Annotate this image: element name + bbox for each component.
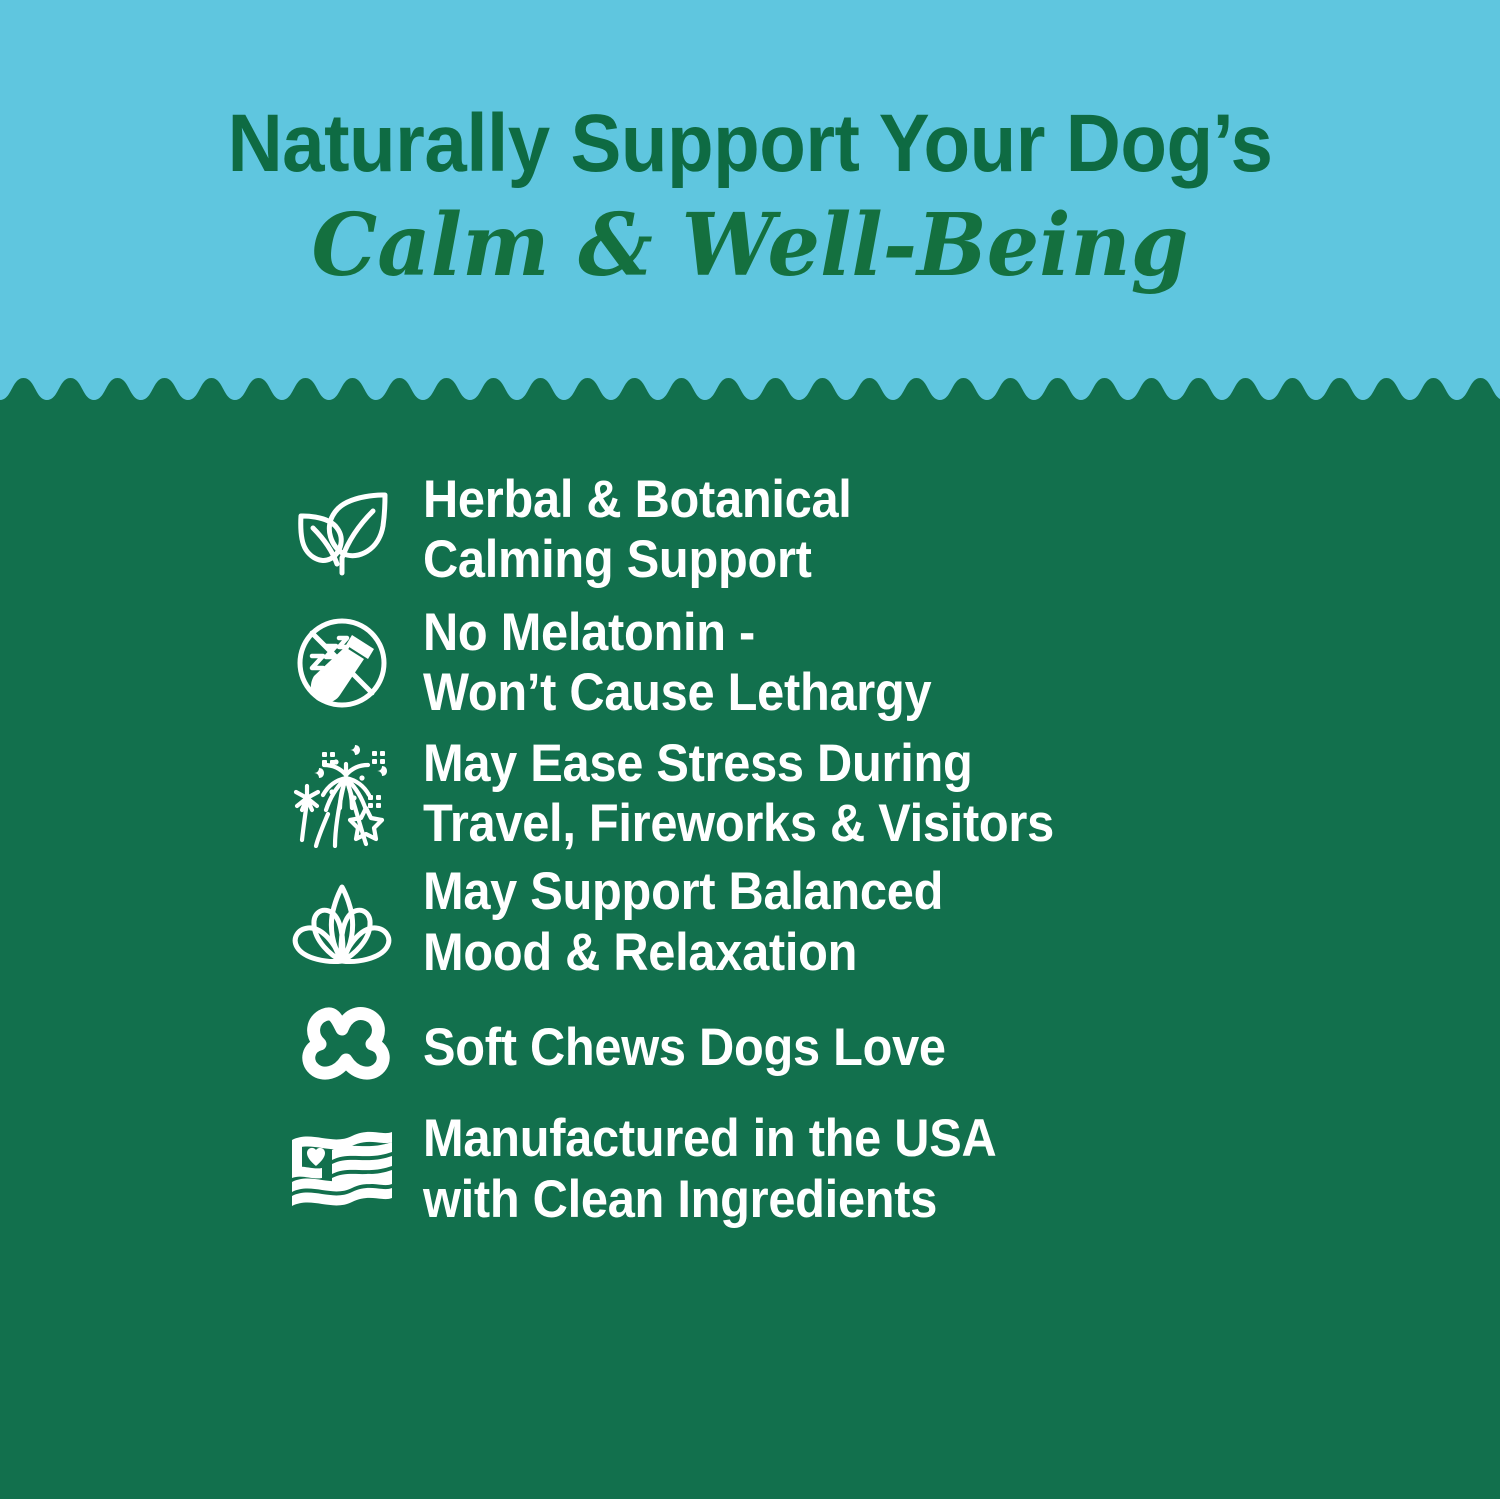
usa-flag-heart-icon [283, 1111, 401, 1229]
wavy-divider [0, 374, 1500, 424]
fireworks-icon [283, 735, 401, 853]
headline-line-2: Calm & Well-Being [30, 203, 1470, 289]
benefit-label: May Support Balanced Mood & Relaxation [423, 862, 943, 983]
headline-line-1: Naturally Support Your Dog’s [53, 103, 1448, 185]
benefit-item-made-in-usa: Manufactured in the USA with Clean Ingre… [0, 1109, 1500, 1230]
benefits-list: Herbal & Botanical Calming Support [0, 470, 1500, 1230]
heart-bone-icon [283, 989, 401, 1107]
page-title: Naturally Support Your Dog’s Calm & Well… [0, 0, 1500, 289]
lotus-icon [283, 864, 401, 982]
benefit-label: Manufactured in the USA with Clean Ingre… [423, 1109, 996, 1230]
benefit-label: Soft Chews Dogs Love [423, 1018, 946, 1078]
benefit-label: May Ease Stress During Travel, Fireworks… [423, 734, 1054, 855]
benefit-item-no-melatonin: No Melatonin - Won’t Cause Lethargy [0, 603, 1500, 724]
benefit-label: No Melatonin - Won’t Cause Lethargy [423, 603, 931, 724]
product-infographic: Naturally Support Your Dog’s Calm & Well… [0, 0, 1500, 1499]
benefit-label: Herbal & Botanical Calming Support [423, 470, 852, 591]
benefit-item-balanced-mood: May Support Balanced Mood & Relaxation [0, 862, 1500, 983]
benefit-item-ease-stress: May Ease Stress During Travel, Fireworks… [0, 734, 1500, 855]
leaf-icon [283, 471, 401, 589]
no-melatonin-icon [283, 604, 401, 722]
benefit-item-herbal-botanical: Herbal & Botanical Calming Support [0, 470, 1500, 591]
benefit-item-soft-chews: Soft Chews Dogs Love [0, 989, 1500, 1107]
